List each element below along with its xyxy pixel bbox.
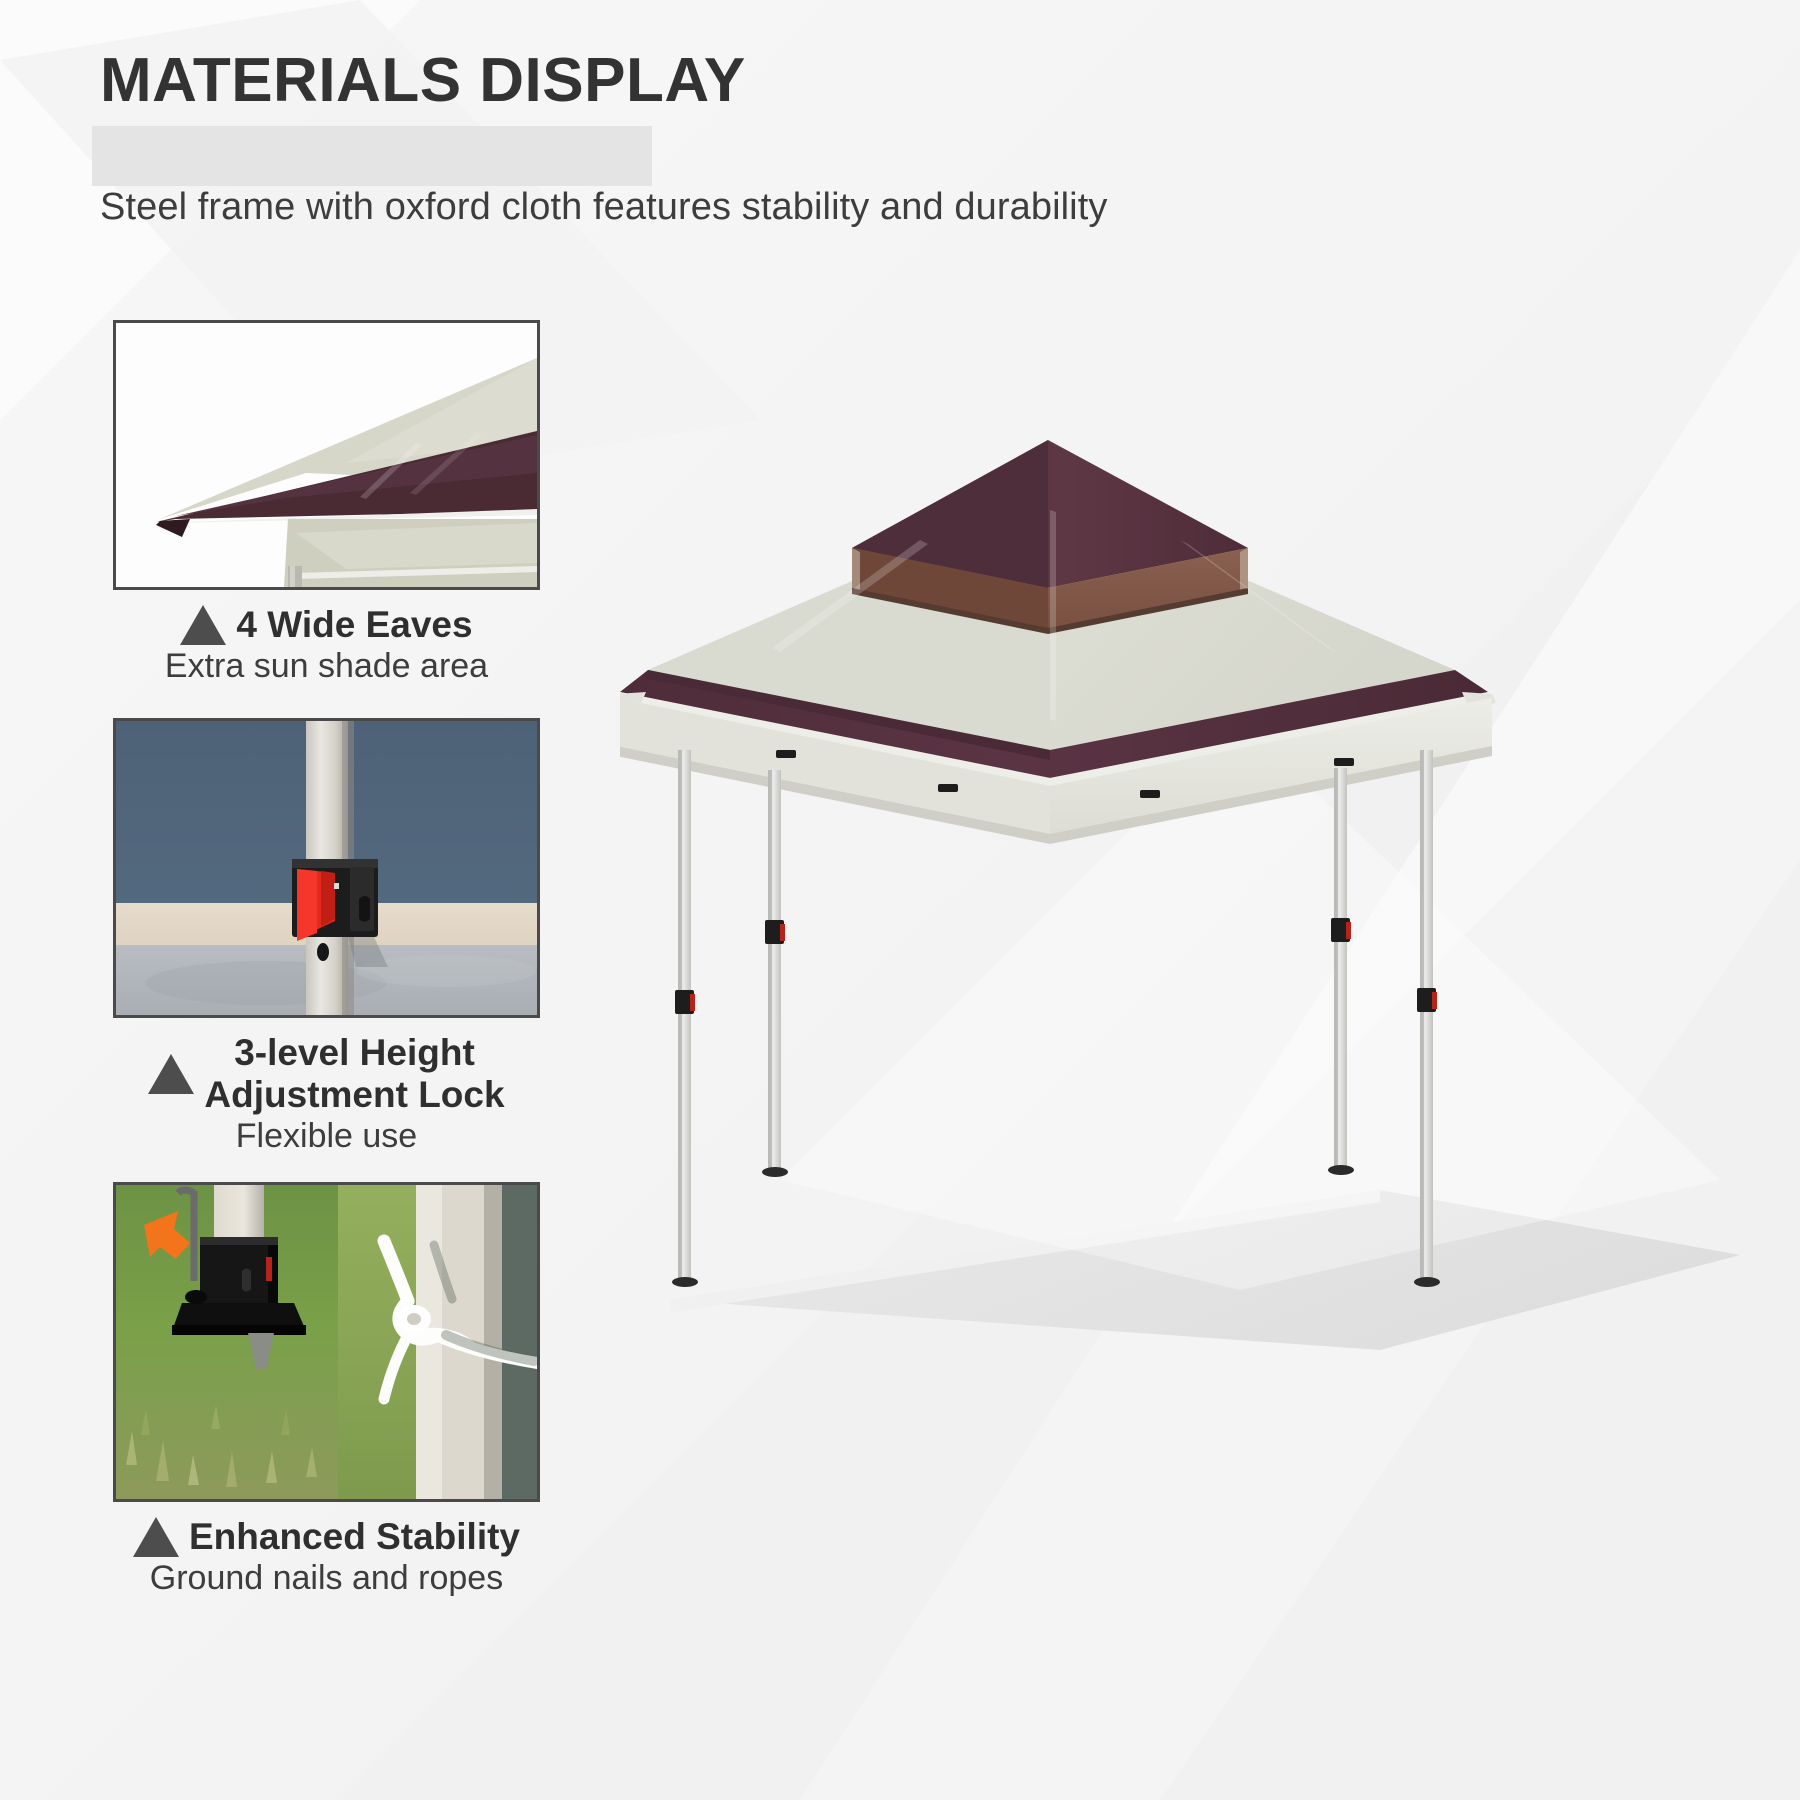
feature-subtitle: Extra sun shade area	[113, 646, 540, 687]
ground-nails-and-ropes-photo	[113, 1182, 540, 1502]
triangle-bullet-icon	[148, 1054, 194, 1094]
height-adjustment-lock-photo	[113, 718, 540, 1018]
feature-title: 4 Wide Eaves	[236, 604, 472, 646]
feature-card-wide-eaves: 4 Wide Eaves Extra sun shade area	[113, 320, 540, 687]
page-title: MATERIALS DISPLAY	[100, 48, 746, 113]
gazebo-eave-closeup-photo	[113, 320, 540, 590]
feature-title: Enhanced Stability	[189, 1516, 520, 1558]
page-title-wrap: MATERIALS DISPLAY	[100, 48, 746, 113]
leg-front-left	[672, 750, 698, 1287]
triangle-bullet-icon	[133, 1517, 179, 1557]
page-subtitle: Steel frame with oxford cloth features s…	[100, 186, 1107, 229]
feature-title-line2: Adjustment Lock	[204, 1074, 504, 1116]
caption-wide-eaves: 4 Wide Eaves Extra sun shade area	[113, 604, 540, 687]
feature-card-stability: Enhanced Stability Ground nails and rope…	[113, 1182, 540, 1599]
triangle-bullet-icon	[180, 605, 226, 645]
caption-height-lock: 3-level Height Adjustment Lock Flexible …	[113, 1032, 540, 1157]
feature-subtitle: Flexible use	[113, 1116, 540, 1157]
caption-stability: Enhanced Stability Ground nails and rope…	[113, 1516, 540, 1599]
feature-subtitle: Ground nails and ropes	[113, 1558, 540, 1599]
title-highlight-bar	[92, 126, 652, 186]
feature-card-height-lock: 3-level Height Adjustment Lock Flexible …	[113, 718, 540, 1157]
feature-title: 3-level Height	[204, 1032, 504, 1074]
leg-inner-left	[762, 770, 788, 1177]
pop-up-gazebo-render	[620, 420, 1740, 1370]
